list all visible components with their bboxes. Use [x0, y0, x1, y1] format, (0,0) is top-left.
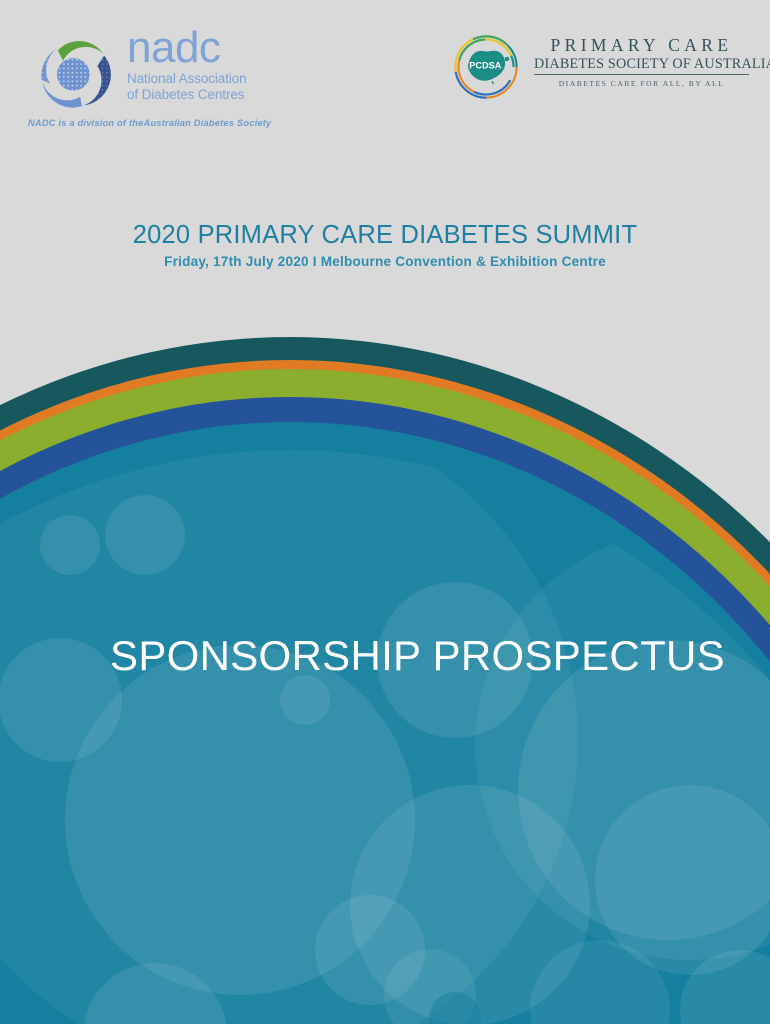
logo-row: nadc National Association of Diabetes Ce… [0, 0, 770, 140]
pcdsa-australia-roundel-icon: PCDSA [452, 33, 520, 101]
nadc-logo: nadc National Association of Diabetes Ce… [22, 26, 287, 136]
page-title: SPONSORSHIP PROSPECTUS [110, 632, 725, 680]
nadc-subtitle-line2: of Diabetes Centres [127, 87, 292, 103]
event-title-block: 2020 PRIMARY CARE DIABETES SUMMIT Friday… [0, 220, 770, 272]
nadc-wordmark-text: nadc [127, 28, 292, 68]
event-subtitle: Friday, 17th July 2020 I Melbourne Conve… [0, 252, 770, 272]
event-title: 2020 PRIMARY CARE DIABETES SUMMIT [0, 220, 770, 250]
nadc-subtitle-line1: National Association [127, 71, 292, 87]
nadc-tagline: NADC is a division of theAustralian Diab… [28, 118, 271, 128]
pcdsa-line-society: DIABETES SOCIETY OF AUSTRALIA [534, 56, 749, 75]
pcdsa-logo: PCDSA PRIMARY CARE DIABETES SOCIETY OF A… [452, 33, 752, 105]
nadc-wordmark: nadc National Association of Diabetes Ce… [127, 28, 292, 102]
nadc-swirl-logo-icon [32, 28, 118, 114]
cover-artwork [0, 0, 770, 1024]
document-cover-page: nadc National Association of Diabetes Ce… [0, 0, 770, 1024]
pcdsa-badge-text: PCDSA [469, 60, 501, 70]
pcdsa-wordmark: PRIMARY CARE DIABETES SOCIETY OF AUSTRAL… [534, 35, 749, 90]
pcdsa-line-motto: DIABETES CARE FOR ALL, BY ALL [534, 75, 749, 90]
pcdsa-line-primary-care: PRIMARY CARE [534, 35, 749, 56]
